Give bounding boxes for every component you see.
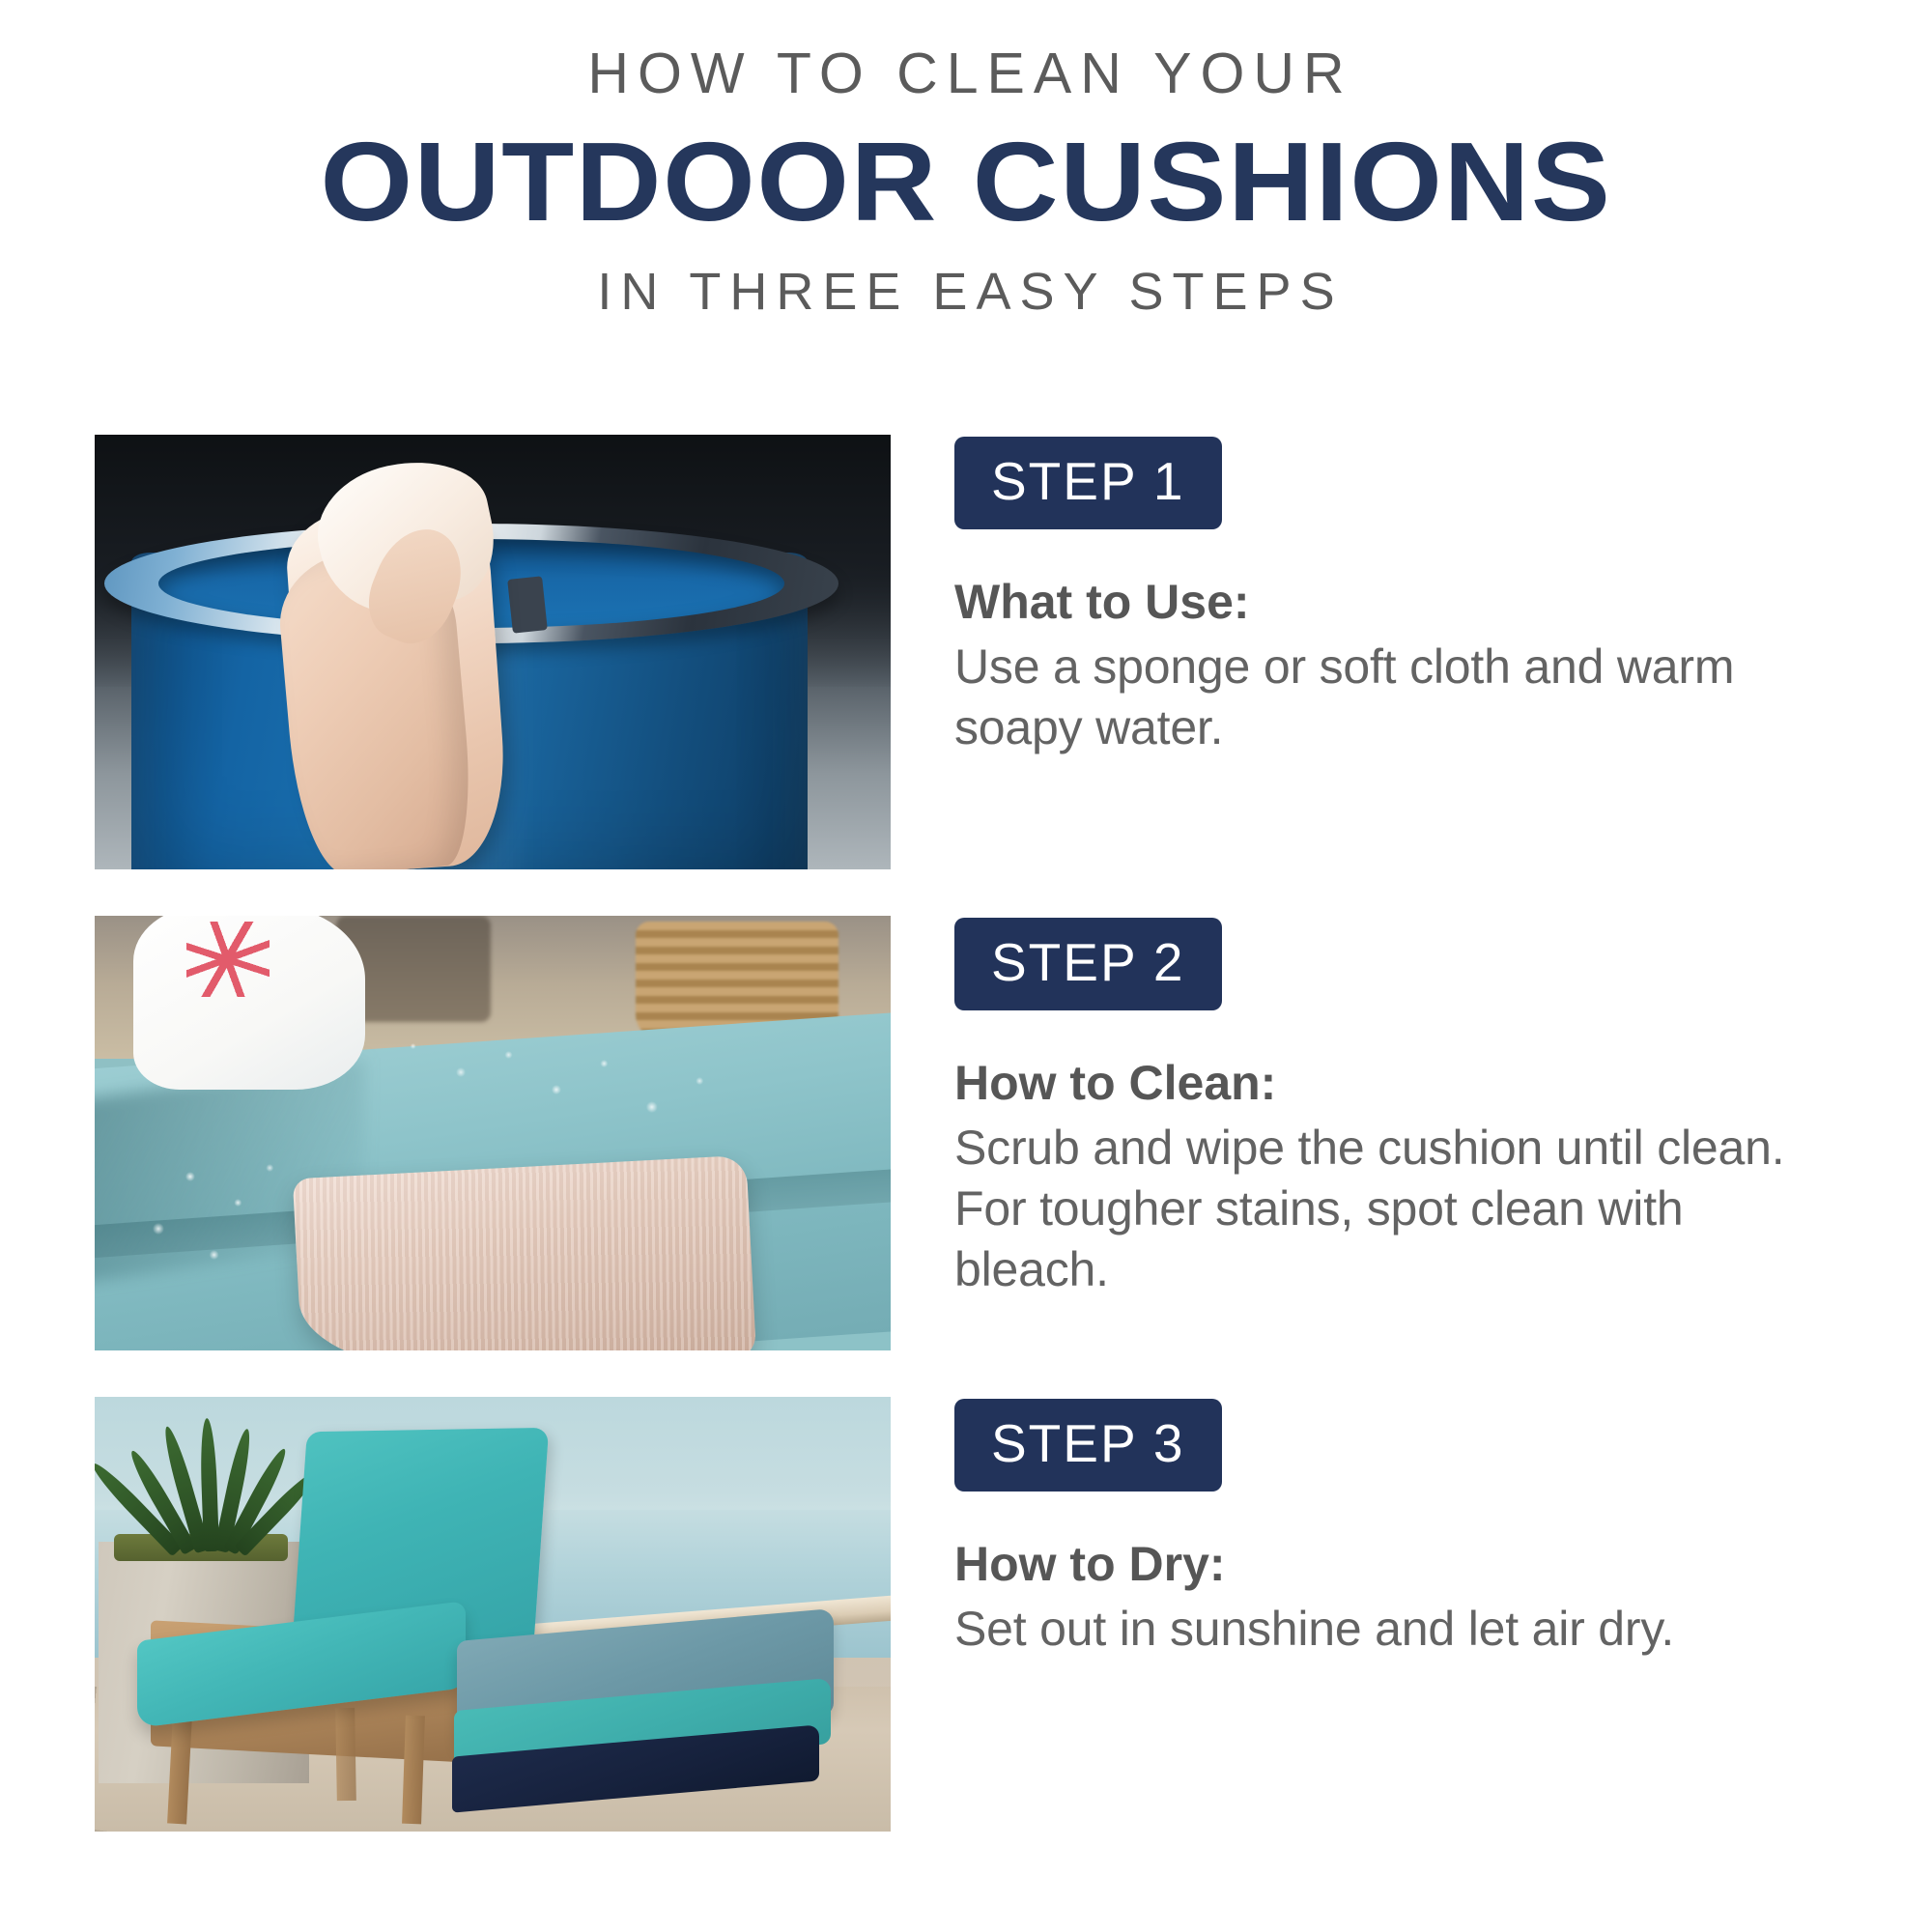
header-kicker: HOW TO CLEAN YOUR (0, 44, 1932, 104)
bucket-handle-notch (507, 576, 548, 633)
step-row: STEP 2 How to Clean: Scrub and wipe the … (0, 916, 1932, 1350)
infographic-header: HOW TO CLEAN YOUR OUTDOOR CUSHIONS IN TH… (0, 0, 1932, 320)
step-3-text: STEP 3 How to Dry: Set out in sunshine a… (954, 1397, 1932, 1660)
step-2-body: Scrub and wipe the cushion until clean. … (954, 1110, 1804, 1300)
step-row: STEP 3 How to Dry: Set out in sunshine a… (0, 1397, 1932, 1832)
step-1-photo (95, 435, 891, 869)
header-subkicker: IN THREE EASY STEPS (0, 238, 1932, 320)
step-2-heading: How to Clean: (954, 1010, 1932, 1110)
lounger-leg (402, 1716, 425, 1825)
lounger-leg (335, 1708, 356, 1801)
step-2-photo (95, 916, 891, 1350)
step-3-photo (95, 1397, 891, 1832)
page-title: OUTDOOR CUSHIONS (0, 104, 1932, 238)
step-3-badge: STEP 3 (954, 1399, 1222, 1492)
step-3-heading: How to Dry: (954, 1492, 1932, 1591)
step-1-text: STEP 1 What to Use: Use a sponge or soft… (954, 435, 1932, 758)
agave-plant (124, 1406, 278, 1551)
step-1-heading: What to Use: (954, 529, 1932, 629)
step-1-body: Use a sponge or soft cloth and warm soap… (954, 629, 1804, 758)
step-row: STEP 1 What to Use: Use a sponge or soft… (0, 435, 1932, 869)
step-3-body: Set out in sunshine and let air dry. (954, 1591, 1804, 1660)
step-1-badge: STEP 1 (954, 437, 1222, 529)
steps-list: STEP 1 What to Use: Use a sponge or soft… (0, 435, 1932, 1878)
step-2-text: STEP 2 How to Clean: Scrub and wipe the … (954, 916, 1932, 1300)
step-2-badge: STEP 2 (954, 918, 1222, 1010)
cleaning-towel (293, 1155, 756, 1350)
